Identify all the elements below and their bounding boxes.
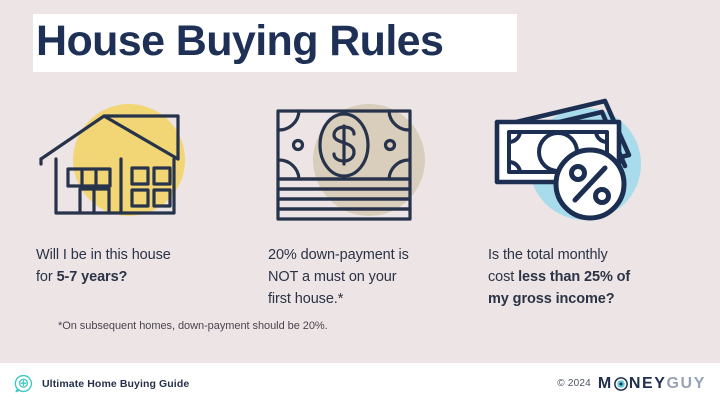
brand-text-ney: NEY xyxy=(629,375,667,393)
moneyguy-logo[interactable]: M NEY GUY xyxy=(598,375,706,393)
caption-1-line-2-prefix: for xyxy=(36,269,57,285)
caption-3-line-2-prefix: cost xyxy=(488,269,518,285)
caption-2-line-3: first house.* xyxy=(268,291,343,307)
caption-3-line-1: Is the total monthly xyxy=(488,247,608,263)
cash-percent-icon xyxy=(488,96,688,231)
footer-left-group: Ultimate Home Buying Guide xyxy=(14,374,189,393)
page-title: House Buying Rules xyxy=(36,14,526,68)
rule-caption-3: Is the total monthly cost less than 25% … xyxy=(488,245,703,310)
caption-1-bold: 5-7 years? xyxy=(57,269,128,285)
rule-caption-1: Will I be in this house for 5-7 years? xyxy=(36,245,251,289)
caption-2-line-1: 20% down-payment is xyxy=(268,247,409,263)
caption-1-line-1: Will I be in this house xyxy=(36,247,171,263)
brand-text-m: M xyxy=(598,375,613,393)
brand-text-guy: GUY xyxy=(667,375,706,393)
dollar-bill-stack-icon-wrapper xyxy=(268,96,468,231)
cash-percent-icon-wrapper xyxy=(488,96,688,231)
footer-right-group: © 2024 M NEY GUY xyxy=(557,375,706,393)
caption-3-bold-1: less than 25% of xyxy=(518,269,630,285)
copyright-text: © 2024 xyxy=(557,378,591,389)
footnote: *On subsequent homes, down-payment shoul… xyxy=(58,320,328,332)
footer-guide-label[interactable]: Ultimate Home Buying Guide xyxy=(42,378,189,390)
infographic-canvas: House Buying Rules xyxy=(0,0,720,404)
footer-bar: Ultimate Home Buying Guide © 2024 M NEY … xyxy=(0,363,720,404)
rule-column-1: Will I be in this house for 5-7 years? xyxy=(36,96,251,289)
rule-column-2: 20% down-payment is NOT a must on your f… xyxy=(268,96,483,310)
moneyguy-o-emblem-icon xyxy=(614,377,628,391)
caption-3-bold-2: my gross income? xyxy=(488,291,615,307)
rule-column-3: Is the total monthly cost less than 25% … xyxy=(488,96,703,310)
caption-2-line-2: NOT a must on your xyxy=(268,269,396,285)
dollar-bill-stack-icon xyxy=(268,96,468,231)
plus-speech-bubble-icon xyxy=(14,374,33,393)
house-icon-wrapper xyxy=(36,96,236,231)
rule-caption-2: 20% down-payment is NOT a must on your f… xyxy=(268,245,483,310)
house-icon xyxy=(36,96,236,231)
